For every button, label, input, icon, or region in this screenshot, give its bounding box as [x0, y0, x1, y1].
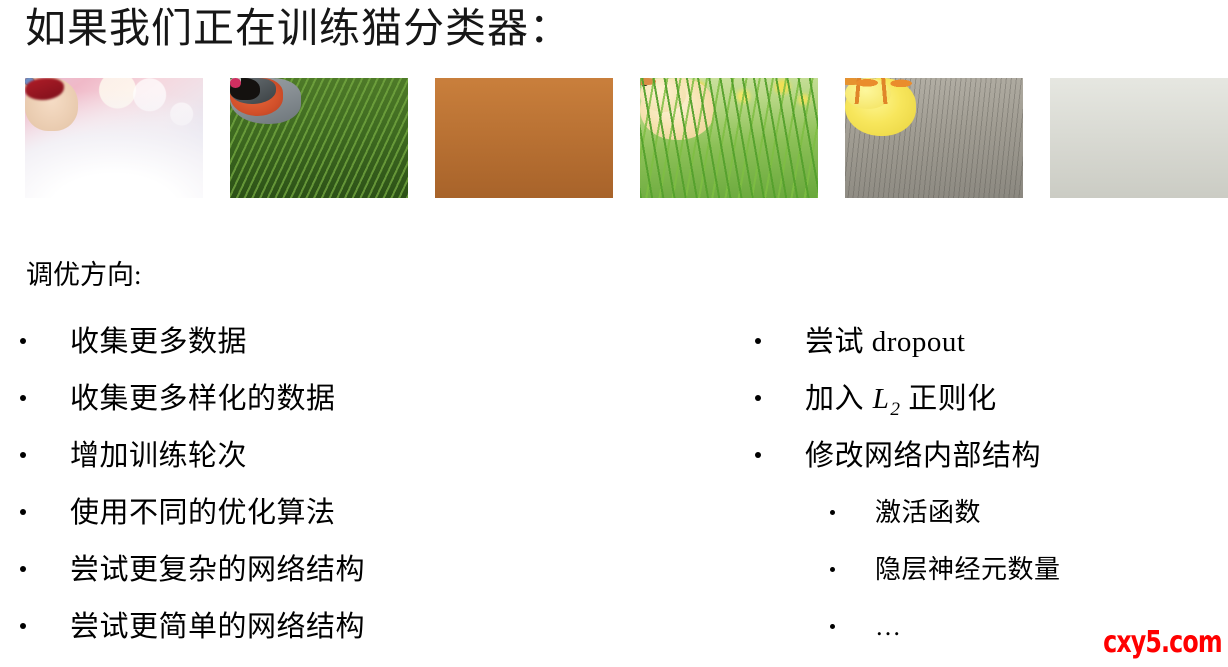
- list-item: 增加训练轮次: [20, 439, 580, 496]
- list-item-label: 尝试 dropout: [805, 325, 965, 359]
- bullet-dot-icon: [830, 624, 835, 629]
- bullet-dot-icon: [20, 623, 26, 629]
- sub-list-item-label: …: [875, 610, 902, 644]
- image-white-kitten-pastel: [25, 78, 203, 198]
- list-item-label: 增加训练轮次: [70, 439, 247, 473]
- bullet-dot-icon: [755, 338, 761, 344]
- sub-list-item: 激活函数: [755, 496, 1225, 553]
- list-item-label: 修改网络内部结构: [805, 439, 1041, 473]
- yellow-chick-feet: [845, 78, 930, 90]
- image-bullfinch-on-pine: [230, 78, 408, 198]
- list-item: 使用不同的优化算法: [20, 496, 580, 553]
- list-item-label-l2-regularization: 加入 L2 正则化: [805, 382, 997, 427]
- example-image-strip: [25, 78, 1228, 200]
- watermark: cxy5.com: [1103, 627, 1222, 659]
- list-item: 收集更多样化的数据: [20, 382, 580, 439]
- image-ginger-white-cat-licking: [1050, 78, 1228, 198]
- bullet-dot-icon: [755, 395, 761, 401]
- bullet-list-right: 尝试 dropout 加入 L2 正则化 修改网络内部结构 激活函数 隐层神经元…: [755, 325, 1225, 667]
- list-item-label: 尝试更复杂的网络结构: [70, 553, 365, 587]
- bullet-dot-icon: [20, 395, 26, 401]
- page-title: 如果我们正在训练猫分类器：: [25, 2, 571, 54]
- list-item: 尝试更复杂的网络结构: [20, 553, 580, 610]
- bullet-dot-icon: [20, 509, 26, 515]
- bullet-dot-icon: [755, 452, 761, 458]
- sub-list-item: 隐层神经元数量: [755, 553, 1225, 610]
- list-item-label: 尝试更简单的网络结构: [70, 610, 365, 644]
- image-chick-in-grass: [640, 78, 818, 198]
- tabby-floor: [435, 78, 613, 198]
- grass-blades: [640, 78, 818, 198]
- section-heading: 调优方向:: [26, 258, 142, 292]
- image-ginger-tabby-closeup: [435, 78, 613, 198]
- bullet-dot-icon: [20, 338, 26, 344]
- sub-list-item-label: 隐层神经元数量: [875, 553, 1061, 587]
- bullet-list-left: 收集更多数据 收集更多样化的数据 增加训练轮次 使用不同的优化算法 尝试更复杂的…: [20, 325, 580, 667]
- list-item: 修改网络内部结构: [755, 439, 1225, 496]
- image-yellow-chick-on-wood: [845, 78, 1023, 198]
- bullet-dot-icon: [830, 510, 835, 515]
- bullet-dot-icon: [20, 566, 26, 572]
- list-item: 收集更多数据: [20, 325, 580, 382]
- list-item-label: 使用不同的优化算法: [70, 496, 336, 530]
- licking-cat-shelf: [1050, 78, 1228, 198]
- sub-list-item-label: 激活函数: [875, 496, 981, 530]
- list-item-label: 收集更多数据: [70, 325, 247, 359]
- list-item-label: 收集更多样化的数据: [70, 382, 336, 416]
- pine-berry: [230, 78, 241, 88]
- list-item: 尝试更简单的网络结构: [20, 610, 580, 667]
- bullet-dot-icon: [830, 567, 835, 572]
- bullet-dot-icon: [20, 452, 26, 458]
- list-item: 加入 L2 正则化: [755, 382, 1225, 439]
- list-item: 尝试 dropout: [755, 325, 1225, 382]
